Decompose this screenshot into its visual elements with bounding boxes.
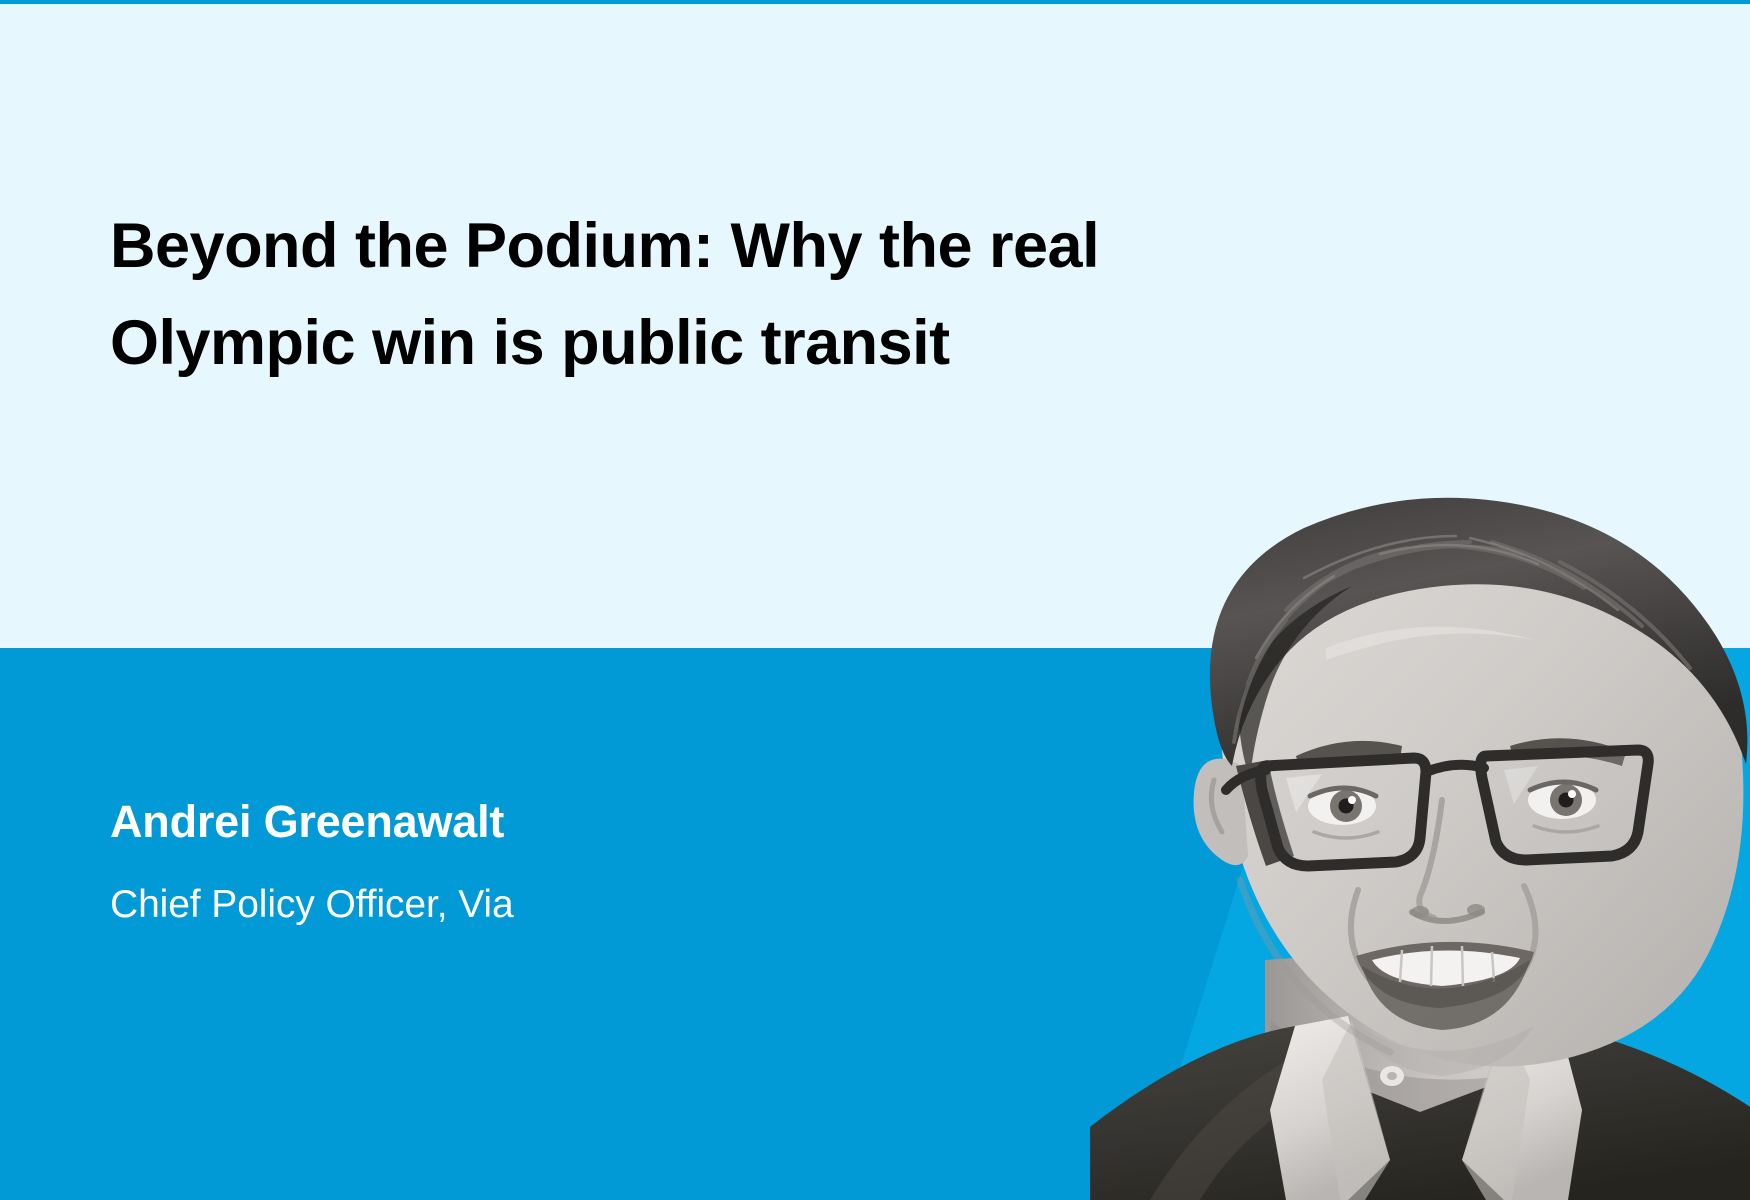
title-slide: Beyond the Podium: Why the real Olympic … [0, 0, 1750, 1200]
speaker-role: Chief Policy Officer, Via [110, 877, 514, 933]
title-line-1: Beyond the Podium: Why the real [110, 198, 1440, 295]
top-accent-bar [0, 0, 1750, 4]
page-title: Beyond the Podium: Why the real Olympic … [110, 198, 1440, 392]
title-line-2: Olympic win is public transit [110, 295, 1440, 392]
speaker-name: Andrei Greenawalt [110, 793, 514, 851]
portrait-photo [1090, 460, 1750, 1200]
speaker-info: Andrei Greenawalt Chief Policy Officer, … [110, 793, 514, 933]
